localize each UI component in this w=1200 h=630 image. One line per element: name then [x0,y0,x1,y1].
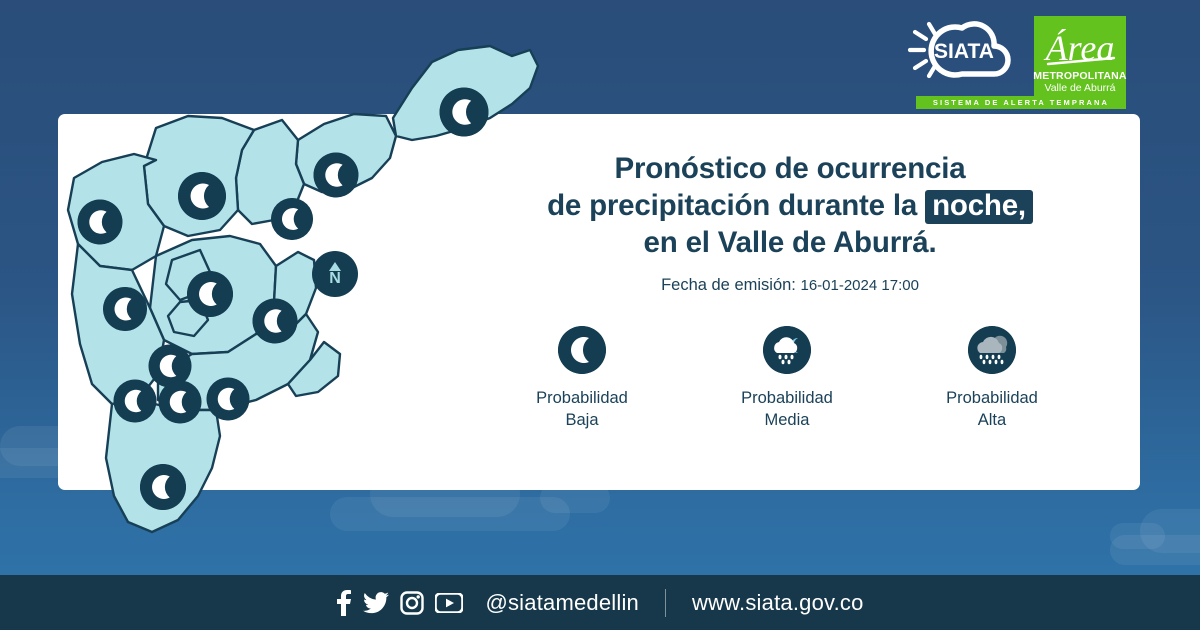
social-handle[interactable]: @siatamedellin [485,590,639,616]
map-marker-baja [253,299,298,344]
social-icon-group [336,590,463,616]
map-marker-baja [159,381,202,424]
moon-icon [253,299,298,344]
map-marker-baja [187,271,233,317]
facebook-icon[interactable] [336,590,352,616]
map-marker-baja [114,380,157,423]
legend-item-alta: Probabilidad Alta [902,326,1082,431]
moon-icon [114,380,157,423]
twitter-icon[interactable] [363,592,389,614]
legend-alta-line1: Probabilidad [946,387,1038,409]
youtube-icon[interactable] [435,593,463,613]
moon-icon [140,464,186,510]
logo-group: SIATA Área METROPOLITANA Valle de Aburrá [902,16,1126,98]
title-line-2-text: de precipitación durante la [547,189,917,222]
forecast-panel: Pronóstico de ocurrencia de precipitació… [470,150,1110,295]
north-arrow-icon: N [312,251,358,297]
map-marker-baja [103,287,147,331]
map-marker-baja [78,200,123,245]
legend-baja-line1: Probabilidad [536,387,628,409]
footer-divider [665,589,666,617]
legend-label-media: Probabilidad Media [741,387,833,431]
moon-icon [103,287,147,331]
legend-baja-line2: Baja [536,409,628,431]
siata-logo: SIATA [902,16,1034,94]
area-logo-line2: Valle de Aburrá [1044,82,1115,94]
issue-date-row: Fecha de emisión: 16-01-2024 17:00 [470,276,1110,295]
issue-date-label: Fecha de emisión: [661,276,796,294]
moon-icon [187,271,233,317]
map-marker-baja [178,172,226,220]
title-line-2: de precipitación durante la noche, [470,187,1110,224]
cloud-rain-moon-icon [763,326,811,374]
title-line-3: en el Valle de Aburrá. [470,224,1110,261]
siata-tagline: SISTEMA DE ALERTA TEMPRANA [916,96,1126,109]
legend-label-alta: Probabilidad Alta [946,387,1038,431]
website-url[interactable]: www.siata.gov.co [692,590,864,616]
legend-label-baja: Probabilidad Baja [536,387,628,431]
legend-item-media: Probabilidad Media [697,326,877,431]
probability-legend: Probabilidad Baja Probabilidad Media [492,326,1082,431]
moon-icon [159,381,202,424]
map-marker-baja [440,88,489,137]
legend-media-line1: Probabilidad [741,387,833,409]
highlight-badge-noche: noche, [925,190,1033,224]
issue-date-value: 16-01-2024 17:00 [800,277,918,294]
aburra-valley-map: N [60,44,560,564]
map-marker-baja [207,378,250,421]
footer-bar: @siatamedellin www.siata.gov.co [0,575,1200,630]
moon-icon [314,153,359,198]
page-title: Pronóstico de ocurrencia de precipitació… [470,150,1110,261]
title-line-1: Pronóstico de ocurrencia [470,150,1110,187]
infographic-root: SIATA Área METROPOLITANA Valle de Aburrá… [0,0,1200,630]
map-marker-baja [314,153,359,198]
siata-wordmark: SIATA [934,40,994,63]
map-marker-baja [140,464,186,510]
moon-icon [558,326,606,374]
background-cloud-icon [1110,535,1200,565]
map-marker-baja [271,198,313,240]
area-metropolitana-logo: Área METROPOLITANA Valle de Aburrá [1034,16,1126,98]
legend-media-line2: Media [741,409,833,431]
moon-icon [207,378,250,421]
moon-icon [271,198,313,240]
legend-alta-line2: Alta [946,409,1038,431]
moon-icon [440,88,489,137]
moon-icon [78,200,123,245]
moon-icon [178,172,226,220]
cloud-heavy-rain-icon [968,326,1016,374]
compass-north-label: N [329,272,341,286]
area-script-icon: Área [1034,18,1126,76]
instagram-icon[interactable] [400,591,424,615]
legend-item-baja: Probabilidad Baja [492,326,672,431]
